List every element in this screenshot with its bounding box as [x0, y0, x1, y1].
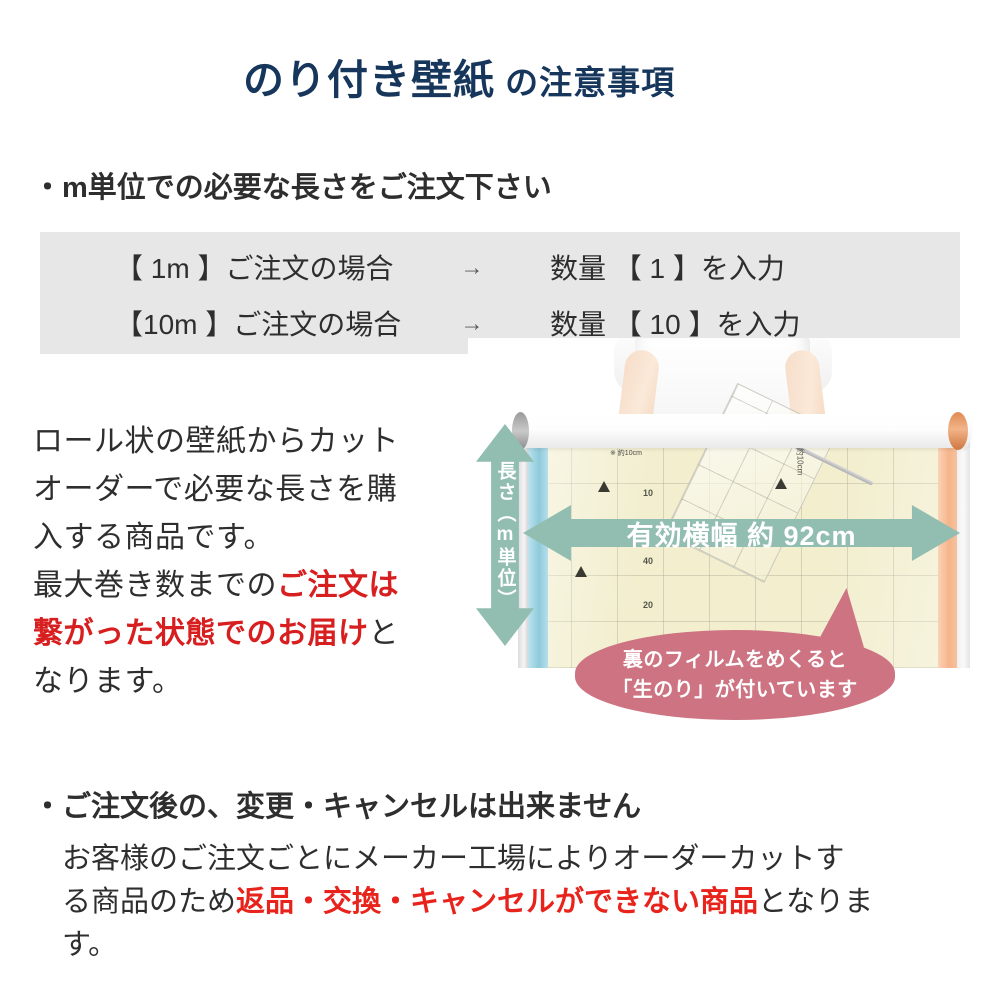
scale-note: ※ 約10cm	[610, 450, 642, 458]
order-amount-cell: 【 1m 】ご注文の場合	[40, 247, 412, 287]
logo-mark-icon	[775, 478, 787, 489]
policy-line-1: お客様のご注文ごとにメーカー工場によりオーダーカットす	[62, 843, 844, 875]
quantity-input-cell: 数量 【 10 】を入力	[532, 303, 960, 343]
policy-line-2-pre: る商品のため	[62, 886, 236, 918]
desc-line-2: オーダーで必要な長さを購	[33, 473, 397, 506]
right-arrow-icon: →	[412, 310, 532, 337]
desc-line-5-post: と	[369, 617, 400, 650]
logo-mark-icon	[575, 566, 587, 577]
table-row: 【 1m 】ご注文の場合 → 数量 【 1 】を入力	[40, 238, 960, 296]
product-photo: ※ 約10cm 10 40 20 約10cm	[468, 338, 978, 668]
desc-line-4-pre: 最大巻き数までの	[33, 569, 277, 602]
desc-line-1: ロール状の壁紙からカット	[33, 425, 399, 458]
tick-label-10: 10	[643, 488, 653, 498]
bullet-heading-length-unit: ・m単位での必要な長さをご注文下さい	[33, 164, 552, 206]
film-edge-right	[957, 442, 970, 668]
logo-mark-icon	[598, 481, 610, 492]
page-title-rest: の注意事項	[495, 64, 675, 101]
policy-line-2-highlight: 返品・交換・キャンセルができない商品	[236, 886, 758, 918]
desc-line-3: 入する商品です。	[33, 521, 274, 554]
desc-line-6: なります。	[33, 665, 183, 698]
desc-line-4-highlight: ご注文は	[277, 569, 399, 602]
order-example-table: 【 1m 】ご注文の場合 → 数量 【 1 】を入力 【10m 】ご注文の場合 …	[40, 232, 960, 354]
page-title: のり付き壁紙 の注意事項	[243, 46, 675, 106]
page-title-main: のり付き壁紙	[243, 57, 495, 103]
order-amount-cell: 【10m 】ご注文の場合	[40, 303, 412, 343]
cancel-policy-description: お客様のご注文ごとにメーカー工場によりオーダーカットす る商品のため返品・交換・…	[62, 838, 974, 967]
speech-bubble	[575, 630, 895, 720]
desc-line-5-highlight: 繋がった状態でのお届け	[33, 617, 369, 650]
tick-label-40: 40	[643, 556, 653, 566]
right-arrow-icon: →	[412, 254, 532, 281]
tick-label-20: 20	[643, 600, 653, 610]
quantity-input-cell: 数量 【 1 】を入力	[532, 247, 960, 287]
bullet-heading-no-cancel: ・ご注文後の、変更・キャンセルは出来ません	[33, 783, 641, 825]
notice-page: のり付き壁紙 の注意事項 ・m単位での必要な長さをご注文下さい 【 1m 】ご注…	[0, 0, 1000, 1000]
roll-cap-right	[948, 412, 968, 450]
wallpaper-roll-tube	[516, 414, 971, 448]
policy-line-3: す。	[62, 929, 117, 961]
cut-order-description: ロール状の壁紙からカット オーダーで必要な長さを購 入する商品です。 最大巻き数…	[33, 418, 463, 706]
side-scale-note: 約10cm	[794, 448, 805, 476]
policy-line-2-post: となりま	[758, 886, 873, 918]
blue-edge-strip	[528, 442, 548, 668]
